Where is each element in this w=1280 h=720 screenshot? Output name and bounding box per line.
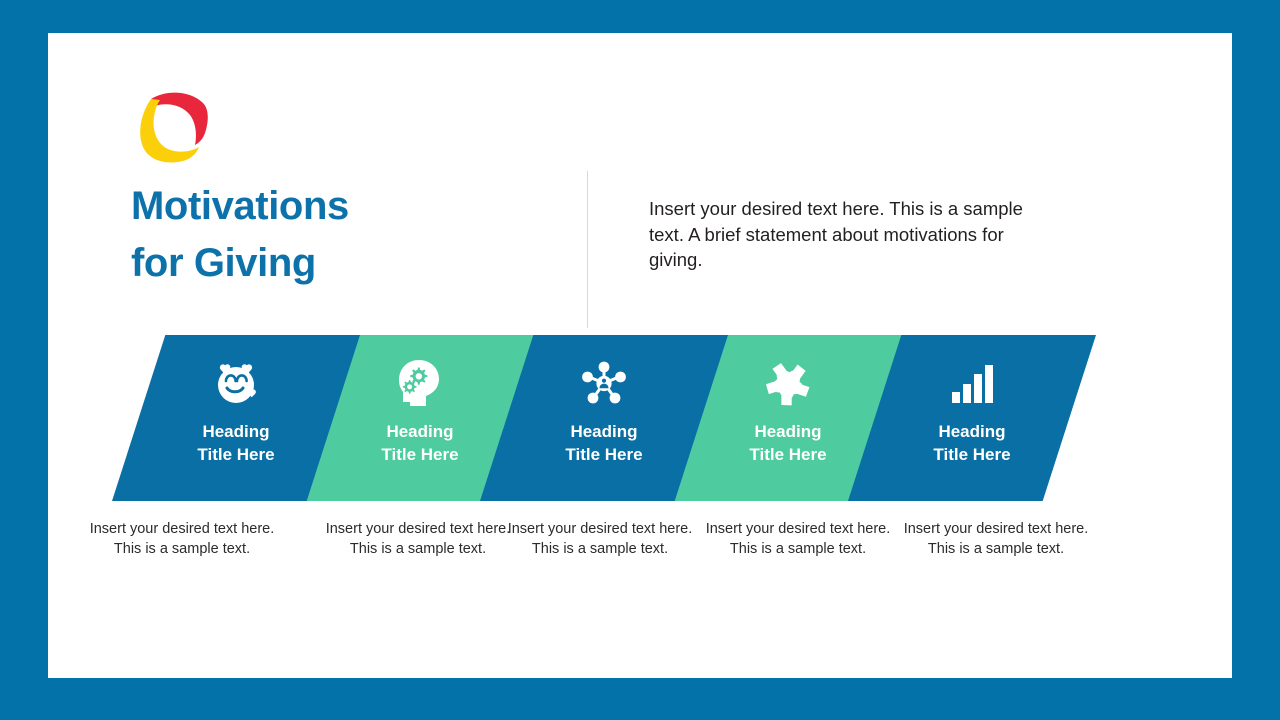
step-caption-5: Insert your desired text here. This is a… [898, 520, 1094, 559]
chevron-band: Heading Title Here Heading Title Here [48, 335, 1232, 505]
intro-paragraph: Insert your desired text here. This is a… [649, 196, 1023, 273]
slide-canvas: Motivations for Giving Insert your desir… [0, 0, 1280, 720]
bar-chart-growth-icon [945, 358, 999, 408]
chevron-heading: Heading Title Here [197, 420, 274, 466]
slide-card: Motivations for Giving Insert your desir… [48, 33, 1232, 678]
chevron-heading: Heading Title Here [381, 420, 458, 466]
step-caption-3: Insert your desired text here. This is a… [502, 520, 698, 559]
step-caption-2: Insert your desired text here. This is a… [320, 520, 516, 559]
chevron-heading: Heading Title Here [933, 420, 1010, 466]
title-line-2: for Giving [131, 235, 531, 292]
head-with-gears-icon [393, 358, 447, 408]
caption-row: Insert your desired text here. This is a… [48, 520, 1232, 610]
header-divider [587, 171, 588, 328]
smiling-face-with-hearts-icon [209, 358, 263, 408]
page-title: Motivations for Giving [131, 178, 531, 292]
step-caption-1: Insert your desired text here. This is a… [84, 520, 280, 559]
slide-header: Motivations for Giving Insert your desir… [48, 33, 1232, 303]
five-hands-icon [761, 358, 815, 408]
network-hub-icon [577, 358, 631, 408]
title-line-1: Motivations [131, 178, 531, 235]
brand-swirl-logo [133, 87, 215, 169]
step-caption-4: Insert your desired text here. This is a… [700, 520, 896, 559]
chevron-heading: Heading Title Here [749, 420, 826, 466]
chevron-heading: Heading Title Here [565, 420, 642, 466]
